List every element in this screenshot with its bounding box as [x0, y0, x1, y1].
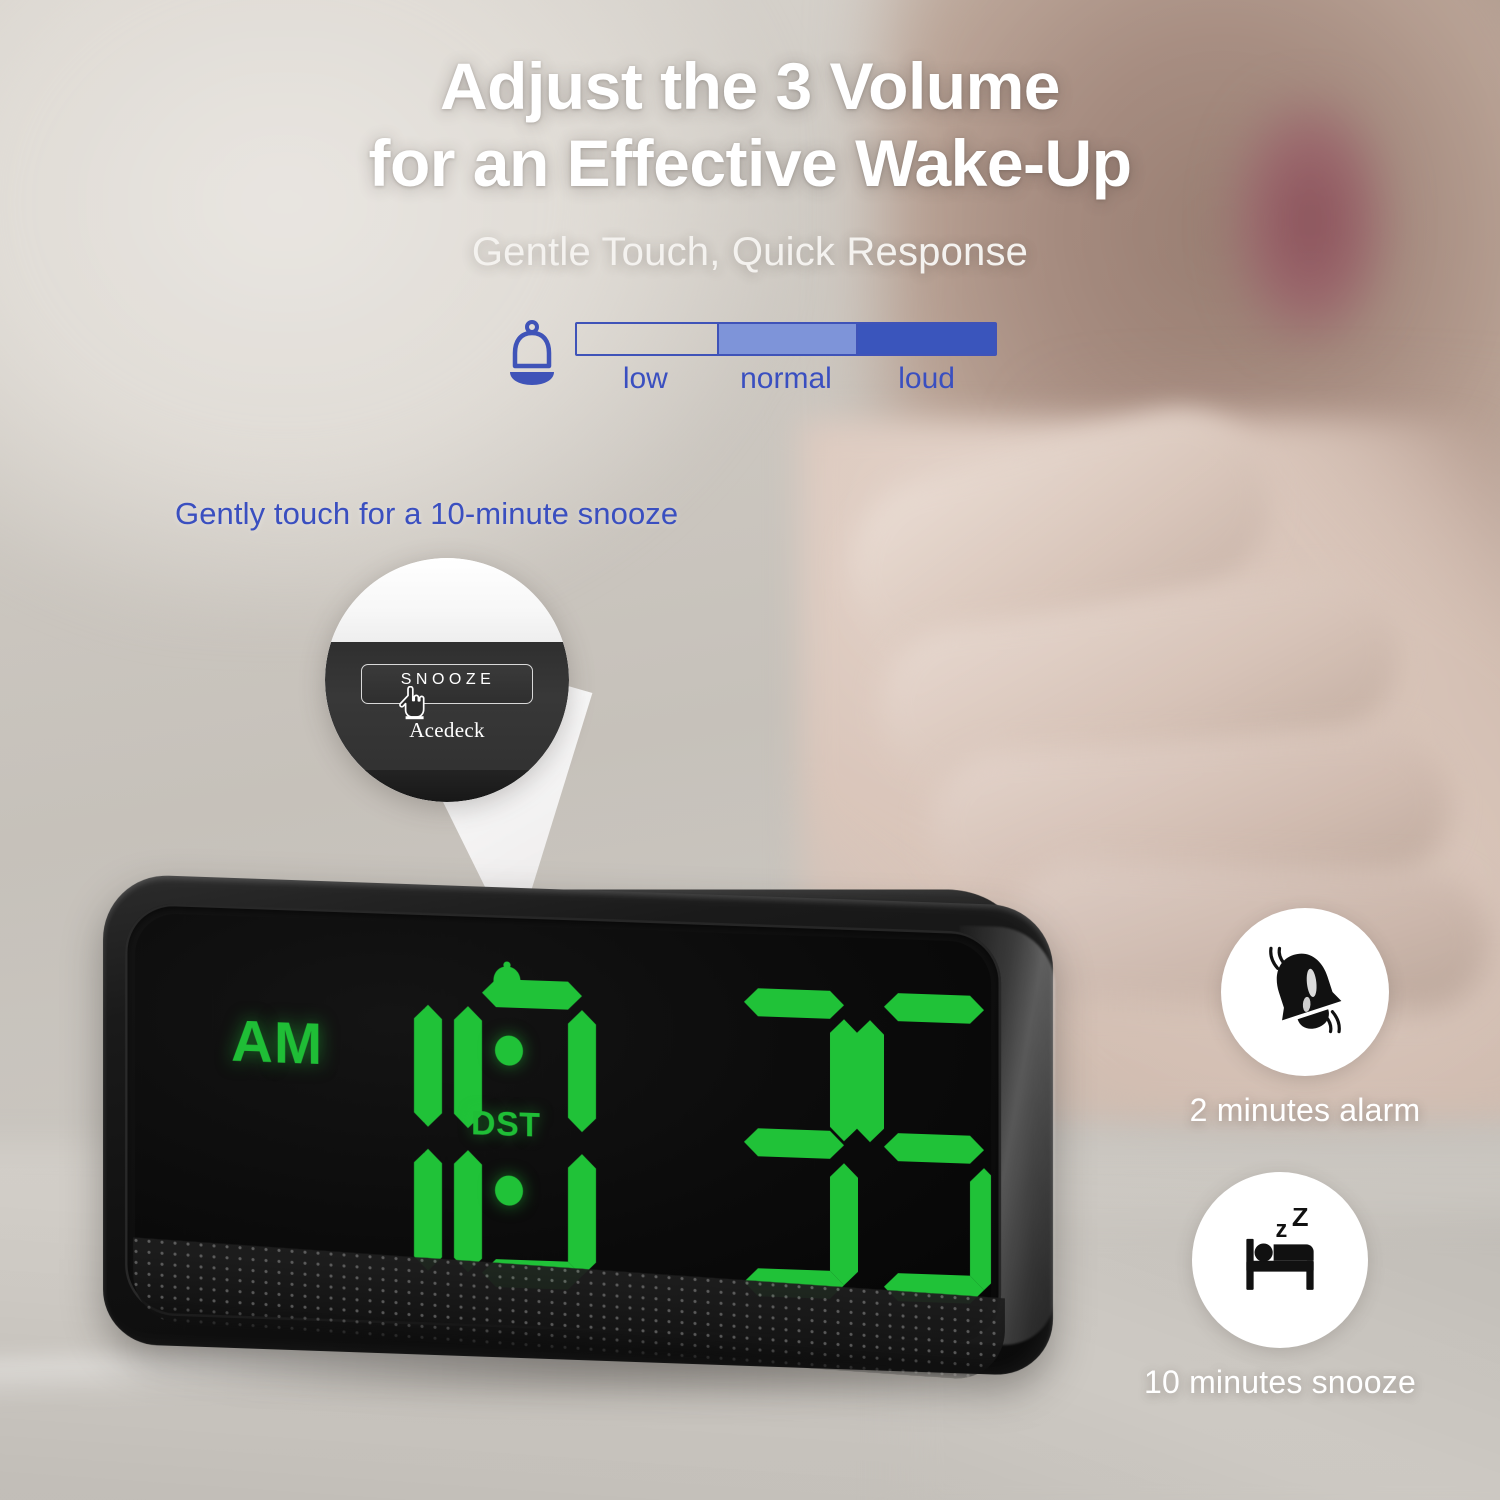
svg-text:z: z	[1275, 1217, 1287, 1243]
feature-icon-circle: z Z	[1192, 1172, 1368, 1348]
snooze-magnifier-bubble: SNOOZE Acedeck	[325, 558, 569, 802]
volume-level-bar[interactable]	[575, 322, 997, 356]
volume-level-labels: low normal loud	[575, 362, 997, 396]
snooze-button-magnified[interactable]: SNOOZE	[361, 664, 533, 704]
alarm-bell-icon	[487, 959, 527, 1006]
bell-icon	[503, 320, 561, 390]
volume-segment-normal[interactable]	[717, 324, 856, 354]
subheadline: Gentle Touch, Quick Response	[0, 230, 1500, 275]
snooze-callout-caption: Gently touch for a 10-minute snooze	[175, 496, 678, 532]
volume-label-loud: loud	[856, 362, 997, 396]
bubble-highlight	[325, 558, 569, 646]
led-digit-minute-ones	[850, 985, 991, 1310]
headline-line-2: for an Effective Wake-Up	[0, 125, 1500, 202]
volume-label-normal: normal	[716, 362, 857, 396]
volume-segment-loud[interactable]	[856, 324, 995, 354]
alarm-clock-device: SNOOZE Acedeck AM	[95, 862, 1060, 1382]
bubble-device-surface	[325, 642, 569, 778]
bubble-device-front	[325, 770, 569, 802]
ringing-bell-icon	[1253, 938, 1357, 1047]
svg-text:Z: Z	[1292, 1208, 1309, 1232]
device-body: AM	[103, 873, 1053, 1376]
feature-label: 10 minutes snooze	[1120, 1364, 1440, 1401]
led-indicator-column: DST	[465, 958, 555, 1261]
feature-icon-circle	[1221, 908, 1389, 1076]
headline: Adjust the 3 Volume for an Effective Wak…	[0, 48, 1500, 201]
led-digit-minute-tens	[710, 981, 860, 1306]
feature-snooze-duration: z Z 10 minutes snooze	[1120, 1172, 1440, 1401]
led-colon-dot-bottom	[495, 1175, 523, 1206]
led-colon-dot-top	[495, 1035, 523, 1066]
bed-sleep-icon: z Z	[1230, 1208, 1330, 1313]
snooze-button-label: SNOOZE	[362, 671, 534, 689]
hand-pointer-icon	[397, 686, 427, 720]
volume-label-low: low	[575, 362, 716, 396]
brand-logo-magnified: Acedeck	[325, 718, 569, 743]
led-digit-hour-tens	[310, 967, 460, 1292]
volume-segment-low[interactable]	[577, 324, 717, 354]
feature-alarm-duration: 2 minutes alarm	[1145, 908, 1465, 1129]
feature-label: 2 minutes alarm	[1145, 1092, 1465, 1129]
led-dst-indicator: DST	[471, 1104, 541, 1145]
volume-indicator: low normal loud	[0, 322, 1500, 396]
headline-line-1: Adjust the 3 Volume	[440, 49, 1060, 123]
